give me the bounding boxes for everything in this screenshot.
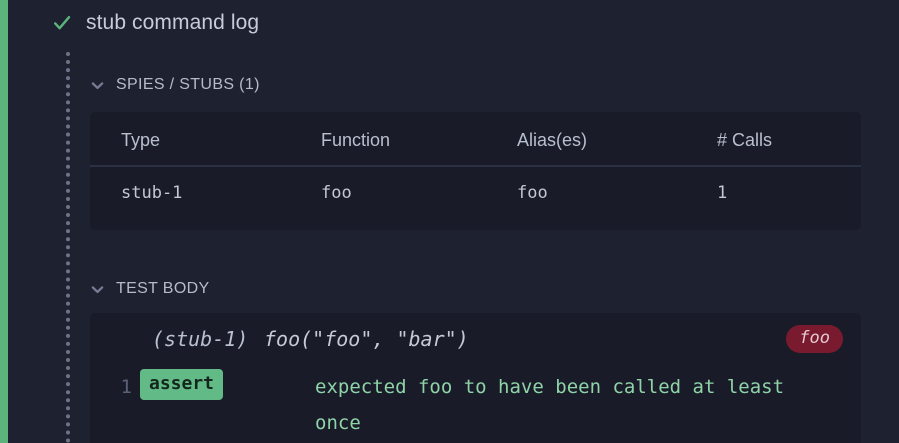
column-header-type: Type (90, 112, 321, 166)
test-status-rail (0, 0, 8, 443)
section-header-test-body[interactable]: TEST BODY (90, 278, 210, 300)
cell-calls: 1 (717, 166, 861, 203)
column-header-calls: # Calls (717, 112, 861, 166)
chevron-down-icon (90, 78, 105, 93)
section-label-spies-stubs: SPIES / STUBS (1) (116, 76, 260, 94)
section-label-test-body: TEST BODY (116, 280, 210, 298)
spies-stubs-card: Type Function Alias(es) # Calls stub-1 f… (90, 112, 861, 230)
check-icon (52, 13, 72, 33)
command-log-row[interactable]: (stub-1) foo("foo", "bar") foo (90, 313, 861, 365)
test-body-card: (stub-1) foo("foo", "bar") foo 1 assert … (90, 313, 861, 443)
assertion-line-number: 1 (90, 369, 132, 405)
assertion-log-row[interactable]: 1 assert expected foo to have been calle… (90, 365, 861, 441)
test-title-row[interactable]: stub command log (52, 4, 259, 42)
test-title: stub command log (86, 11, 259, 35)
column-header-function: Function (321, 112, 517, 166)
cell-type: stub-1 (90, 166, 321, 203)
chevron-down-icon (90, 282, 105, 297)
cell-aliases: foo (517, 166, 717, 203)
test-indent-guide (66, 52, 70, 443)
table-header-row: Type Function Alias(es) # Calls (90, 112, 861, 166)
assert-badge: assert (140, 369, 223, 400)
spies-stubs-table: Type Function Alias(es) # Calls stub-1 f… (90, 112, 861, 203)
assertion-message: expected foo to have been called at leas… (315, 369, 827, 441)
cell-function: foo (321, 166, 517, 203)
alias-pill[interactable]: foo (786, 325, 843, 353)
command-stub-tag: (stub-1) (132, 327, 264, 351)
column-header-aliases: Alias(es) (517, 112, 717, 166)
command-text: foo("foo", "bar") (264, 327, 861, 351)
table-row[interactable]: stub-1 foo foo 1 (90, 166, 861, 203)
section-header-spies-stubs[interactable]: SPIES / STUBS (1) (90, 74, 260, 96)
